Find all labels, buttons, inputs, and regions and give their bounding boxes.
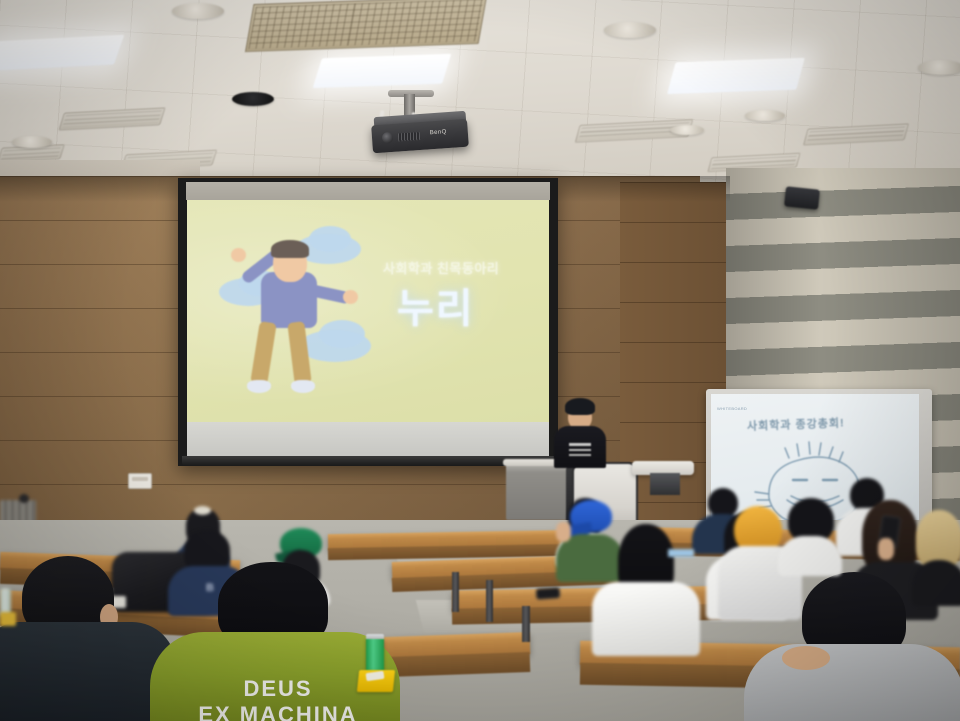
torso: [592, 582, 700, 656]
desk-support-1: [452, 572, 459, 612]
console-shelf-support: [650, 473, 680, 495]
smoke-detector-6: [670, 125, 704, 135]
character-hand-right: [343, 290, 358, 304]
whiteboard-handwriting: 사회학과 종강총회!: [747, 414, 845, 433]
projection-screen-lower: [187, 422, 549, 458]
character-leg-left: [250, 321, 276, 385]
wall-outlet-plate: [128, 473, 152, 489]
panel-light-center: [313, 54, 452, 88]
shirt-print-line2: EX MACHINA: [178, 702, 378, 721]
yellow-item-left: [0, 612, 16, 626]
projection-screen-bottom-bar: [182, 456, 554, 465]
student-white-tee-center: [592, 524, 700, 652]
presenter: [552, 396, 608, 468]
desk-support-2: [486, 580, 493, 622]
hand: [878, 538, 894, 560]
whiteboard-brand-label: WHITEBOARD: [717, 406, 747, 411]
slide-subtitle: 사회학과 친목동아리: [383, 258, 499, 277]
student-green-shirt: DEUS EX MACHINA: [150, 580, 400, 721]
smartphone-on-desk[interactable]: [536, 587, 561, 600]
student-grey-hoodie: [762, 572, 960, 721]
torso: [778, 536, 842, 576]
presenter-hair: [565, 398, 595, 415]
character-hair: [271, 240, 309, 258]
lecture-hall-photo: BenQ: [0, 0, 960, 721]
smoke-detector-3: [918, 60, 960, 75]
shirt-print-line1: DEUS: [198, 676, 358, 702]
wall-speaker: [784, 186, 820, 209]
slide-title: 누리: [397, 276, 475, 334]
smoke-detector-5: [745, 110, 785, 121]
ceiling-sensor: [232, 92, 274, 106]
character-shoe-left: [247, 380, 271, 393]
presenter-shirt-graphic: [569, 438, 591, 460]
paper-on-desk: [668, 549, 694, 557]
desk-support-3: [522, 606, 530, 642]
smoke-detector-1: [172, 3, 224, 19]
raised-hand: [556, 522, 571, 542]
projector-lens-icon: [382, 132, 394, 144]
panel-light-right: [667, 58, 805, 94]
smoke-detector-2: [604, 22, 656, 38]
student-right-dark-hair: [778, 498, 842, 570]
ceiling-grille: [245, 0, 487, 52]
hair-clip-icon: [194, 506, 211, 515]
projected-slide: 사회학과 친목동아리 누리: [187, 200, 549, 422]
smoke-detector-4: [12, 136, 52, 148]
projection-screen-top-band: [186, 182, 550, 200]
can-top: [366, 634, 384, 639]
green-soda-can: [366, 638, 384, 672]
projector-vent-icon: [398, 132, 421, 142]
radiator-knob-icon: [19, 494, 29, 503]
shoulder-skin: [782, 646, 830, 670]
torso: [744, 644, 960, 721]
character-hand-left: [231, 248, 246, 262]
slide-character: [229, 238, 369, 408]
character-leg-right: [287, 321, 311, 385]
projector-brand-label: BenQ: [430, 129, 447, 136]
character-shoe-right: [291, 380, 315, 393]
